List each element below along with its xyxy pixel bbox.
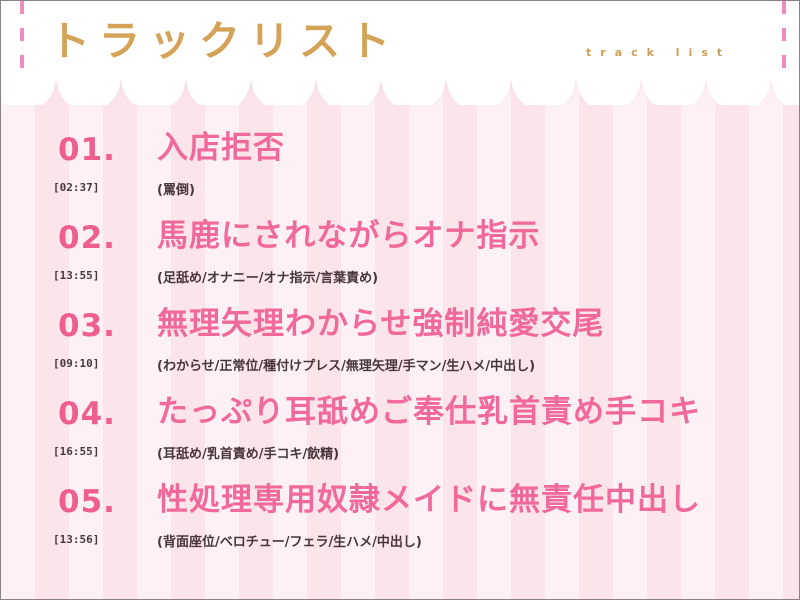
track-number: 05.: [58, 485, 116, 519]
track-title: 馬鹿にされながらオナ指示: [157, 215, 540, 257]
track-row: 01. [02:37] 入店拒否 (罵倒): [1, 125, 800, 213]
track-list: 01. [02:37] 入店拒否 (罵倒) 02. [13:55] 馬鹿にされな…: [1, 125, 800, 565]
page-subtitle: track list: [586, 46, 731, 59]
track-number: 02.: [58, 221, 116, 255]
scallop-edge: [0, 79, 800, 105]
track-duration: [09:10]: [53, 357, 99, 370]
track-number: 03.: [58, 309, 116, 343]
track-row: 02. [13:55] 馬鹿にされながらオナ指示 (足舐め/オナニー/オナ指示/…: [1, 213, 800, 301]
track-tags: (罵倒): [157, 179, 195, 198]
page-title: トラックリスト: [49, 15, 399, 67]
track-duration: [16:55]: [53, 445, 99, 458]
track-number: 01.: [58, 133, 116, 167]
track-duration: [13:55]: [53, 269, 99, 282]
track-duration: [13:56]: [53, 533, 99, 546]
track-title: たっぷり耳舐めご奉仕乳首責め手コキ: [157, 391, 701, 433]
track-tags: (耳舐め/乳首責め/手コキ/飲精): [157, 443, 339, 462]
track-title: 入店拒否: [157, 127, 285, 169]
track-title: 性処理専用奴隷メイドに無責任中出し: [157, 479, 701, 521]
track-tags: (わからせ/正常位/種付けプレス/無理矢理/手マン/生ハメ/中出し): [157, 355, 535, 374]
track-title: 無理矢理わからせ強制純愛交尾: [157, 303, 604, 345]
track-row: 04. [16:55] たっぷり耳舐めご奉仕乳首責め手コキ (耳舐め/乳首責め/…: [1, 389, 800, 477]
track-number: 04.: [58, 397, 116, 431]
dashed-rule-right: [782, 1, 786, 73]
track-tags: (足舐め/オナニー/オナ指示/言葉責め): [157, 267, 378, 286]
track-tags: (背面座位/ベロチュー/フェラ/生ハメ/中出し): [157, 531, 422, 550]
track-row: 03. [09:10] 無理矢理わからせ強制純愛交尾 (わからせ/正常位/種付け…: [1, 301, 800, 389]
track-row: 05. [13:56] 性処理専用奴隷メイドに無責任中出し (背面座位/ベロチュ…: [1, 477, 800, 565]
track-duration: [02:37]: [53, 181, 99, 194]
track-list-page: トラックリスト track list 01. [02:37] 入店拒否 (罵倒)…: [0, 0, 800, 600]
dashed-rule-left: [20, 1, 24, 73]
